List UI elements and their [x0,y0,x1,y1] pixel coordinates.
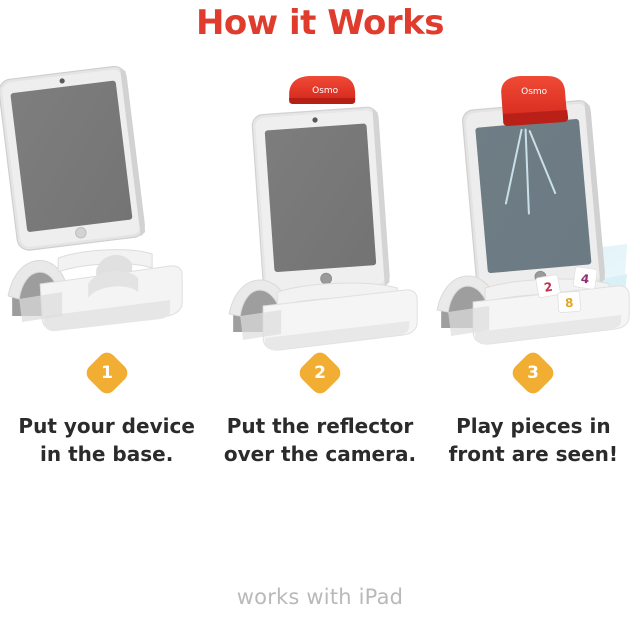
number-card-2: 2 [535,274,560,298]
step-caption-1-line1: Put your device [8,412,205,440]
svg-text:8: 8 [564,296,573,311]
step-caption-1-line2: in the base. [8,440,205,468]
tablet-step-1 [0,65,146,251]
reflector-logo-text-2: Osmo [312,86,339,96]
illustration-panel-2: Osmo [213,54,426,354]
step-badge-1-number: 1 [90,356,124,390]
step-badge-2: 2 [296,349,344,397]
tablet-step-3 [461,100,605,294]
step-caption-1: Put your device in the base. [0,412,213,468]
step-badge-3: 3 [509,349,557,397]
step-1: 1 [0,356,213,390]
scene-step-3: Osmo 2 [427,54,640,354]
step-badges: 1 2 3 [0,356,640,390]
step-badge-1: 1 [83,349,131,397]
number-card-8: 8 [557,291,580,312]
reflector-step-2: Osmo [289,76,355,104]
number-card-4: 4 [573,267,598,290]
step-caption-2-line2: over the camera. [221,440,418,468]
step-2: 2 [213,356,426,390]
step-caption-3-line2: front are seen! [435,440,632,468]
step-captions: Put your device in the base. Put the ref… [0,412,640,468]
illustration-panel-3: Osmo 2 [427,54,640,354]
step-caption-3-line1: Play pieces in [435,412,632,440]
page-title: How it Works [0,0,640,44]
step-caption-2: Put the reflector over the camera. [213,412,426,468]
step-badge-3-number: 3 [516,356,550,390]
reflector-logo-text-3: Osmo [521,87,548,97]
illustration-panel-1 [0,54,213,354]
scene-step-1 [0,54,213,354]
base-step-2 [229,280,417,350]
base-step-3 [437,276,629,344]
footer-note: works with iPad [0,585,640,609]
step-badge-2-number: 2 [303,356,337,390]
base-step-1 [8,250,182,332]
scene-step-2: Osmo [213,54,426,354]
step-3: 3 [427,356,640,390]
tablet-step-2 [252,107,390,295]
step-caption-3: Play pieces in front are seen! [427,412,640,468]
step-caption-2-line1: Put the reflector [221,412,418,440]
reflector-step-3: Osmo [501,76,568,126]
illustration-panels: Osmo [0,54,640,354]
